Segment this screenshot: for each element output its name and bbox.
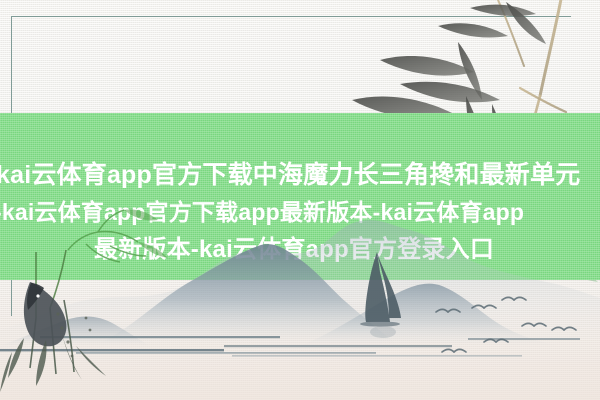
headline-line-3: 最新版本-kai云体育app官方登录入口 (94, 238, 494, 262)
headline-line-2: -kai云体育app官方下载app最新版本-kai云体育app (0, 201, 524, 224)
banner-text-block: kai云体育app官方下载中海魔力长三角搀和最新单元 -kai云体育app官方下… (0, 113, 600, 280)
banner-image: kai云体育app官方下载中海魔力长三角搀和最新单元 -kai云体育app官方下… (0, 0, 600, 400)
headline-line-1: kai云体育app官方下载中海魔力长三角搀和最新单元 (0, 163, 580, 188)
